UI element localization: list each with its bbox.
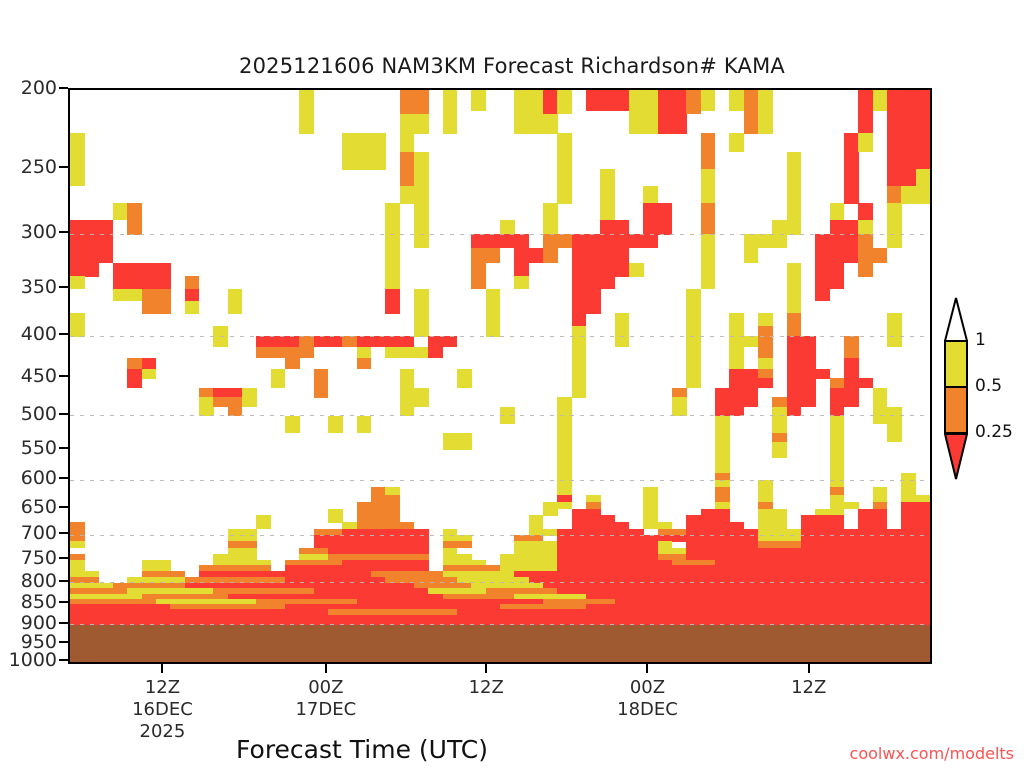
heatmap-cell (400, 114, 429, 134)
heatmap-cell (557, 424, 572, 433)
heatmap-cell (342, 152, 357, 170)
heatmap-cell (887, 234, 902, 248)
heatmap-cell (830, 203, 845, 220)
heatmap-cell (557, 186, 572, 204)
heatmap-cell (615, 336, 630, 347)
heatmap-cell (830, 220, 859, 235)
y-tick-label: 350 (21, 276, 57, 298)
x-tick-mark (485, 664, 487, 673)
heatmap-cell (385, 220, 400, 235)
heatmap-cell (772, 397, 787, 407)
heatmap-cell (887, 152, 930, 170)
heatmap-cell (758, 90, 773, 114)
y-tick-mark (59, 447, 68, 449)
heatmap-cell (414, 289, 429, 301)
heatmap-cell (443, 90, 458, 114)
heatmap-cell (514, 248, 543, 263)
heatmap-cell (400, 186, 415, 204)
heatmap-cell (70, 169, 85, 186)
heatmap-cell (830, 378, 845, 388)
heatmap-cell (787, 313, 802, 326)
y-tick-label: 200 (21, 77, 57, 99)
heatmap-cell (314, 336, 343, 347)
heatmap-cell (543, 234, 572, 248)
heatmap-cell (658, 114, 687, 134)
heatmap-cell (414, 234, 429, 248)
heatmap-cell (242, 388, 257, 398)
y-tick-mark (59, 601, 68, 603)
heatmap-cell (844, 186, 859, 204)
heatmap-cell (615, 313, 630, 326)
heatmap-cell (858, 114, 873, 134)
y-tick-label: 700 (21, 522, 57, 544)
heatmap-cell (844, 336, 859, 347)
y-gridline (70, 535, 930, 536)
y-tick-label: 300 (21, 221, 57, 243)
heatmap-cell (815, 263, 844, 277)
heatmap-cell (185, 301, 200, 314)
heatmap-cell (686, 347, 701, 358)
heatmap-cell (600, 169, 615, 186)
x-tick-label: 00Z (308, 677, 343, 698)
x-tick-label: 12Z (469, 677, 504, 698)
heatmap-cell (787, 276, 802, 289)
heatmap-cell (385, 263, 400, 277)
colorbar-under-cap (944, 432, 968, 480)
heatmap-cell (314, 378, 329, 388)
heatmap-cell (543, 248, 558, 263)
heatmap-cell (830, 388, 859, 398)
heatmap-cell (543, 90, 558, 114)
heatmap-cell (70, 152, 85, 170)
heatmap-cell (385, 289, 400, 301)
heatmap-cell (701, 186, 716, 204)
heatmap-cell (242, 397, 257, 407)
heatmap-cell (615, 234, 658, 248)
heatmap-cell (815, 234, 858, 248)
heatmap-cell (213, 388, 242, 398)
heatmap-cell (400, 90, 429, 114)
heatmap-cell (228, 289, 243, 301)
heatmap-cell (729, 369, 758, 379)
y-tick-mark (59, 532, 68, 534)
heatmap-cell (471, 263, 486, 277)
heatmap-cell (916, 90, 931, 114)
heatmap-cell (299, 114, 314, 134)
heatmap-cell (271, 369, 286, 379)
heatmap-cell (271, 378, 286, 388)
heatmap-cell (772, 234, 787, 248)
heatmap-cell (686, 358, 701, 369)
x-axis-title-text: Forecast Time (UTC) (236, 735, 488, 764)
heatmap-cell (256, 347, 285, 358)
heatmap-cell (858, 248, 887, 263)
terrain-ground-region (70, 625, 930, 662)
heatmap-cell (543, 203, 558, 220)
heatmap-cell (787, 263, 802, 277)
heatmap-cell (457, 378, 472, 388)
y-tick-mark (59, 231, 68, 233)
heatmap-cell (715, 388, 758, 398)
heatmap-cell (586, 90, 601, 111)
heatmap-cell (901, 186, 930, 204)
y-tick-label: 750 (21, 547, 57, 569)
heatmap-cell (887, 186, 902, 204)
heatmap-cell (787, 169, 802, 186)
heatmap-cell (858, 234, 873, 248)
heatmap-cell (514, 114, 543, 134)
heatmap-cell (686, 378, 701, 388)
heatmap-cell (400, 133, 415, 152)
colorbar-over-cap (944, 296, 968, 342)
x-tick-mark (646, 664, 648, 673)
heatmap-cell (385, 276, 400, 289)
heatmap-cell (314, 388, 329, 398)
y-tick-mark (59, 477, 68, 479)
heatmap-cell (701, 152, 716, 170)
heatmap-cell (787, 289, 802, 301)
heatmap-cell (185, 289, 200, 301)
heatmap-cell (600, 90, 615, 111)
y-tick-label: 850 (21, 591, 57, 613)
heatmap-cell (858, 263, 873, 277)
x-tick-label: 12Z (145, 677, 180, 698)
chart-canvas: 2025121606 NAM3KM Forecast Richardson# K… (0, 0, 1024, 768)
heatmap-cell (744, 234, 773, 248)
heatmap-cell (543, 220, 558, 235)
x-tick-label: 12Z (791, 677, 826, 698)
heatmap-cell (772, 450, 787, 458)
colorbar-segment (944, 340, 968, 388)
y-tick-label: 550 (21, 437, 57, 459)
heatmap-cell (686, 336, 701, 347)
heatmap-cell (557, 169, 572, 186)
heatmap-cell (113, 276, 171, 289)
y-tick-label: 400 (21, 323, 57, 345)
heatmap-cell (385, 234, 400, 248)
heatmap-cell (285, 424, 300, 433)
heatmap-cell (285, 347, 314, 358)
heatmap-cell (70, 263, 99, 277)
heatmap-cell (887, 203, 902, 220)
heatmap-cell (815, 248, 858, 263)
heatmap-cell (701, 220, 716, 235)
heatmap-cell (758, 313, 773, 326)
y-gridline (70, 582, 930, 583)
heatmap-cell (758, 347, 773, 358)
heatmap-cell (787, 186, 802, 204)
heatmap-cell (557, 397, 572, 407)
heatmap-cell (830, 424, 845, 433)
y-tick-label: 450 (21, 365, 57, 387)
heatmap-cell (729, 347, 744, 358)
heatmap-cell (844, 369, 859, 379)
heatmap-cell (572, 301, 601, 314)
heatmap-cell (729, 336, 758, 347)
heatmap-cell (643, 186, 658, 204)
heatmap-cell (70, 313, 85, 326)
heatmap-cell (414, 313, 429, 326)
y-gridline (70, 234, 930, 235)
heatmap-cell (572, 388, 587, 398)
heatmap-cell (629, 263, 644, 277)
heatmap-cell (844, 133, 859, 152)
heatmap-cell (572, 378, 587, 388)
heatmap-cell (84, 248, 113, 263)
heatmap-cell (471, 90, 486, 111)
heatmap-cell (385, 347, 428, 358)
heatmap-cell (285, 358, 300, 369)
x-tick-label: 16DEC (132, 699, 193, 720)
heatmap-cell (715, 424, 730, 433)
heatmap-cell (787, 388, 816, 398)
heatmap-cell (729, 90, 744, 111)
heatmap-cell (557, 133, 572, 152)
heatmap-cell (787, 203, 802, 220)
heatmap-cell (113, 203, 128, 220)
y-tick-mark (59, 375, 68, 377)
heatmap-cell (514, 90, 543, 114)
heatmap-cell (815, 289, 830, 301)
heatmap-cell (428, 347, 443, 358)
heatmap-cell (500, 220, 515, 235)
heatmap-cell (887, 169, 916, 186)
heatmap-cell (629, 90, 658, 114)
heatmap-cell (887, 133, 930, 152)
heatmap-cell (443, 114, 458, 134)
heatmap-cell (658, 90, 687, 114)
heatmap-cell (729, 313, 744, 326)
y-tick-mark (59, 286, 68, 288)
heatmap-cell (844, 152, 859, 170)
heatmap-cell (701, 263, 716, 277)
y-tick-mark (59, 622, 68, 624)
heatmap-cell (572, 234, 615, 248)
heatmap-cell (414, 152, 429, 170)
heatmap-cell (385, 301, 400, 314)
heatmap-cell (557, 90, 572, 114)
heatmap-cell (428, 336, 457, 347)
heatmap-cell (70, 276, 85, 289)
heatmap-cell (701, 133, 716, 152)
heatmap-cell (127, 369, 142, 379)
heatmap-cell (672, 397, 687, 407)
heatmap-cell (686, 313, 701, 326)
heatmap-cell (471, 234, 529, 248)
heatmap-cell (858, 220, 873, 235)
heatmap-cell-layer (70, 90, 930, 662)
heatmap-cell (758, 336, 773, 347)
heatmap-cell (572, 369, 587, 379)
heatmap-cell (858, 133, 873, 152)
heatmap-cell (514, 263, 529, 277)
heatmap-cell (142, 301, 171, 314)
heatmap-cell (357, 424, 372, 433)
y-tick-mark (59, 580, 68, 582)
heatmap-cell (342, 336, 357, 347)
heatmap-cell (701, 248, 716, 263)
heatmap-cell (228, 301, 243, 314)
heatmap-cell (686, 369, 701, 379)
heatmap-cell (400, 388, 429, 398)
heatmap-cell (701, 169, 716, 186)
heatmap-cell (844, 169, 859, 186)
y-tick-label: 600 (21, 467, 57, 489)
heatmap-cell (686, 289, 701, 301)
heatmap-cell (887, 220, 902, 235)
heatmap-cell (744, 90, 759, 114)
heatmap-cell (772, 424, 787, 433)
heatmap-cell (873, 90, 888, 111)
heatmap-cell (615, 90, 630, 111)
heatmap-cell (557, 152, 572, 170)
heatmap-cell (471, 276, 486, 289)
heatmap-cell (715, 397, 758, 407)
y-gridline (70, 480, 930, 481)
heatmap-cell (385, 248, 400, 263)
heatmap-cell (758, 114, 773, 134)
heatmap-cell (744, 248, 759, 263)
heatmap-cell (414, 220, 429, 235)
heatmap-cell (572, 358, 587, 369)
heatmap-cell (328, 424, 343, 433)
heatmap-cell (787, 152, 802, 170)
y-tick-mark (59, 557, 68, 559)
heatmap-cell (572, 248, 630, 263)
heatmap-cell (314, 369, 329, 379)
y-tick-mark (59, 166, 68, 168)
heatmap-cell (629, 114, 658, 134)
heatmap-cell (787, 378, 816, 388)
heatmap-cell (787, 301, 802, 314)
x-tick-label: 00Z (630, 677, 665, 698)
heatmap-cell (486, 301, 501, 314)
heatmap-cell (758, 358, 773, 369)
heatmap-cell (414, 301, 429, 314)
heatmap-cell (701, 276, 716, 289)
heatmap-cell (600, 220, 629, 235)
heatmap-cell (729, 358, 744, 369)
heatmap-cell (600, 203, 615, 220)
heatmap-cell (70, 234, 113, 248)
heatmap-cell (858, 203, 873, 220)
heatmap-cell (357, 133, 386, 152)
y-tick-mark (59, 506, 68, 508)
heatmap-cell (787, 336, 816, 347)
heatmap-cell (299, 336, 314, 347)
y-tick-mark (59, 413, 68, 415)
heatmap-cell (572, 289, 601, 301)
heatmap-cell (457, 369, 472, 379)
heatmap-cell (471, 248, 500, 263)
heatmap-cell (199, 397, 214, 407)
heatmap-cell (758, 369, 773, 379)
heatmap-cell (142, 289, 171, 301)
heatmap-cell (213, 336, 228, 347)
heatmap-cell (543, 509, 558, 516)
heatmap-cell (299, 90, 314, 114)
heatmap-cell (70, 541, 85, 548)
heatmap-cell (787, 397, 816, 407)
heatmap-cell (142, 369, 157, 379)
heatmap-cell (572, 276, 615, 289)
heatmap-cell (400, 369, 415, 379)
heatmap-cell (643, 203, 672, 220)
watermark: coolwx.com/modelts (850, 744, 1014, 763)
heatmap-cell (543, 114, 558, 134)
heatmap-cell (572, 313, 587, 326)
heatmap-cell (729, 378, 772, 388)
heatmap-cell (858, 90, 873, 114)
x-tick-mark (325, 664, 327, 673)
y-gridline (70, 415, 930, 416)
heatmap-cell (127, 203, 142, 220)
heatmap-cell (113, 263, 171, 277)
y-axis: 2002503003504004505005506006507007508008… (0, 88, 68, 664)
heatmap-cell (844, 347, 859, 358)
heatmap-cell (357, 336, 415, 347)
heatmap-cell (357, 347, 372, 358)
chart-title: 2025121606 NAM3KM Forecast Richardson# K… (0, 54, 1024, 78)
heatmap-cell (70, 133, 85, 152)
plot-area (68, 88, 932, 664)
colorbar-tick-label: 1 (975, 330, 986, 350)
colorbar-tick-label: 0.5 (975, 376, 1002, 396)
heatmap-cell (199, 388, 214, 398)
heatmap-cell (887, 424, 902, 433)
heatmap-cell (701, 203, 716, 220)
heatmap-cell (70, 220, 113, 235)
heatmap-cell (414, 186, 429, 204)
y-tick-label: 250 (21, 156, 57, 178)
colorbar-segment (944, 386, 968, 434)
heatmap-cell (887, 114, 930, 134)
heatmap-cell (887, 313, 902, 326)
y-tick-mark (59, 659, 68, 661)
heatmap-cell (873, 397, 888, 407)
heatmap-cell (600, 186, 615, 204)
heatmap-cell (213, 397, 242, 407)
heatmap-cell (686, 90, 701, 114)
heatmap-cell (572, 263, 630, 277)
heatmap-cell (414, 203, 429, 220)
heatmap-cell (643, 220, 672, 235)
heatmap-cell (185, 276, 200, 289)
heatmap-cell (256, 336, 299, 347)
heatmap-cell (729, 133, 744, 152)
heatmap-cell (844, 358, 859, 369)
x-tick-mark (808, 664, 810, 673)
heatmap-cell (357, 152, 386, 170)
heatmap-cell (887, 336, 902, 347)
heatmap-cell (400, 152, 415, 170)
x-tick-label: 17DEC (295, 699, 356, 720)
heatmap-cell (400, 169, 415, 186)
y-tick-label: 800 (21, 570, 57, 592)
heatmap-cell (400, 378, 415, 388)
heatmap-cell (844, 378, 873, 388)
x-axis: 12Z16DEC202500Z17DEC12Z00Z18DEC12Z (68, 664, 932, 744)
heatmap-cell (414, 169, 429, 186)
heatmap-cell (400, 397, 429, 407)
y-tick-mark (59, 87, 68, 89)
heatmap-cell (127, 378, 142, 388)
colorbar-tick-label: 0.25 (975, 422, 1013, 442)
y-tick-label: 500 (21, 403, 57, 425)
heatmap-cell (815, 276, 844, 289)
heatmap-cell (342, 133, 357, 152)
heatmap-cell (357, 358, 372, 369)
